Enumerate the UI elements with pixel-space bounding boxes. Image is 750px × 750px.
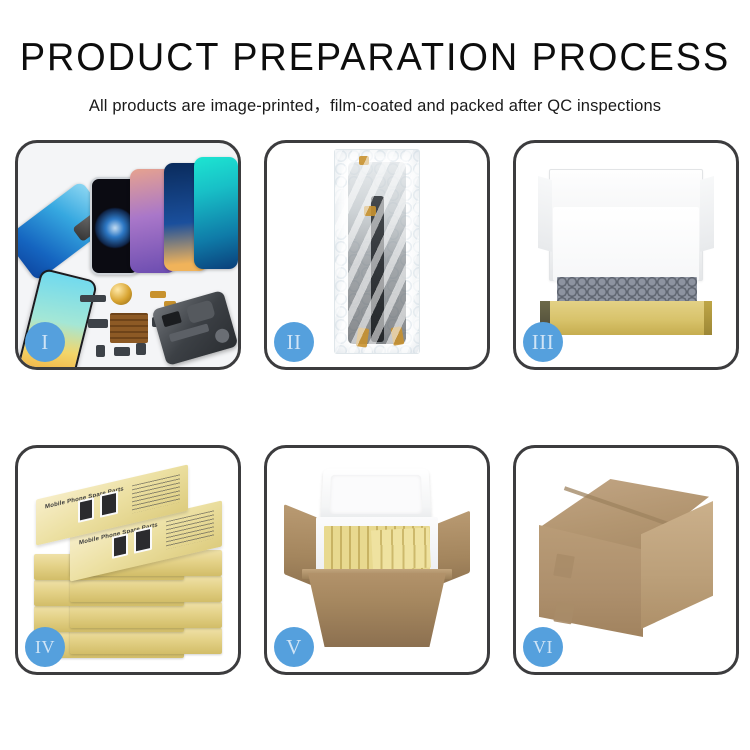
- step-badge-5: V: [274, 627, 314, 667]
- speaker-module-icon: [110, 283, 132, 305]
- spec-text-lines: [166, 510, 214, 549]
- step-badge-1: I: [25, 322, 65, 362]
- bubble-wrap-bag-illustration: [334, 149, 420, 354]
- vibrator-icon: [136, 343, 146, 355]
- styrofoam-lid-icon: [320, 468, 431, 523]
- process-step-grid: I II: [15, 140, 740, 675]
- sim-tray-icon: [96, 345, 105, 357]
- flex-cable-icon: [371, 196, 384, 342]
- screen-thumbnail-icon: [112, 533, 128, 559]
- gold-connector-icon: [150, 291, 166, 298]
- tape-patch-icon: [553, 602, 574, 625]
- tape-tab-icon: [359, 156, 369, 165]
- process-step-panel-5: V: [264, 445, 490, 675]
- tape-tab-icon: [356, 327, 370, 347]
- carton-body-icon: [308, 573, 446, 647]
- process-step-panel-4: Mobile Phone Spare Parts Mobile Phone Sp…: [15, 445, 241, 675]
- header: PRODUCT PREPARATION PROCESS All products…: [0, 0, 750, 116]
- foam-sheet-icon: [553, 207, 699, 281]
- packed-yellow-boxes-icon: [371, 528, 431, 571]
- step-badge-2: II: [274, 322, 314, 362]
- button-part-icon: [114, 347, 130, 356]
- product-preparation-infographic: PRODUCT PREPARATION PROCESS All products…: [0, 0, 750, 750]
- screen-thumbnail-icon: [134, 527, 152, 554]
- process-step-panel-6: VI: [513, 445, 739, 675]
- process-step-panel-2: II: [264, 140, 490, 370]
- flex-cable-icon: [88, 319, 108, 328]
- sealed-carton-illustration: [533, 477, 719, 643]
- small-part-icon: [80, 295, 106, 302]
- screen-thumbnail-icon: [100, 491, 118, 518]
- circuit-board-icon: [110, 313, 148, 343]
- step-badge-3: III: [523, 322, 563, 362]
- teal-phone-icon: [194, 157, 238, 269]
- process-step-panel-3: III: [513, 140, 739, 370]
- box-stack-illustration: Mobile Phone Spare Parts Mobile Phone Sp…: [30, 462, 226, 658]
- open-carton-illustration: [282, 465, 472, 655]
- step-badge-4: IV: [25, 627, 65, 667]
- spec-text-lines: [132, 474, 180, 513]
- step-badge-6: VI: [523, 627, 563, 667]
- phone-lineup-illustration: [18, 153, 238, 273]
- tape-patch-icon: [553, 554, 575, 579]
- page-subtitle: All products are image-printed，film-coat…: [0, 92, 750, 116]
- page-title: PRODUCT PREPARATION PROCESS: [11, 38, 739, 79]
- process-step-panel-1: I: [15, 140, 241, 370]
- tape-tab-icon: [364, 206, 376, 216]
- open-tray-box-illustration: [535, 169, 717, 341]
- screen-thumbnail-icon: [78, 497, 94, 523]
- yellow-box-base-icon: [541, 301, 711, 335]
